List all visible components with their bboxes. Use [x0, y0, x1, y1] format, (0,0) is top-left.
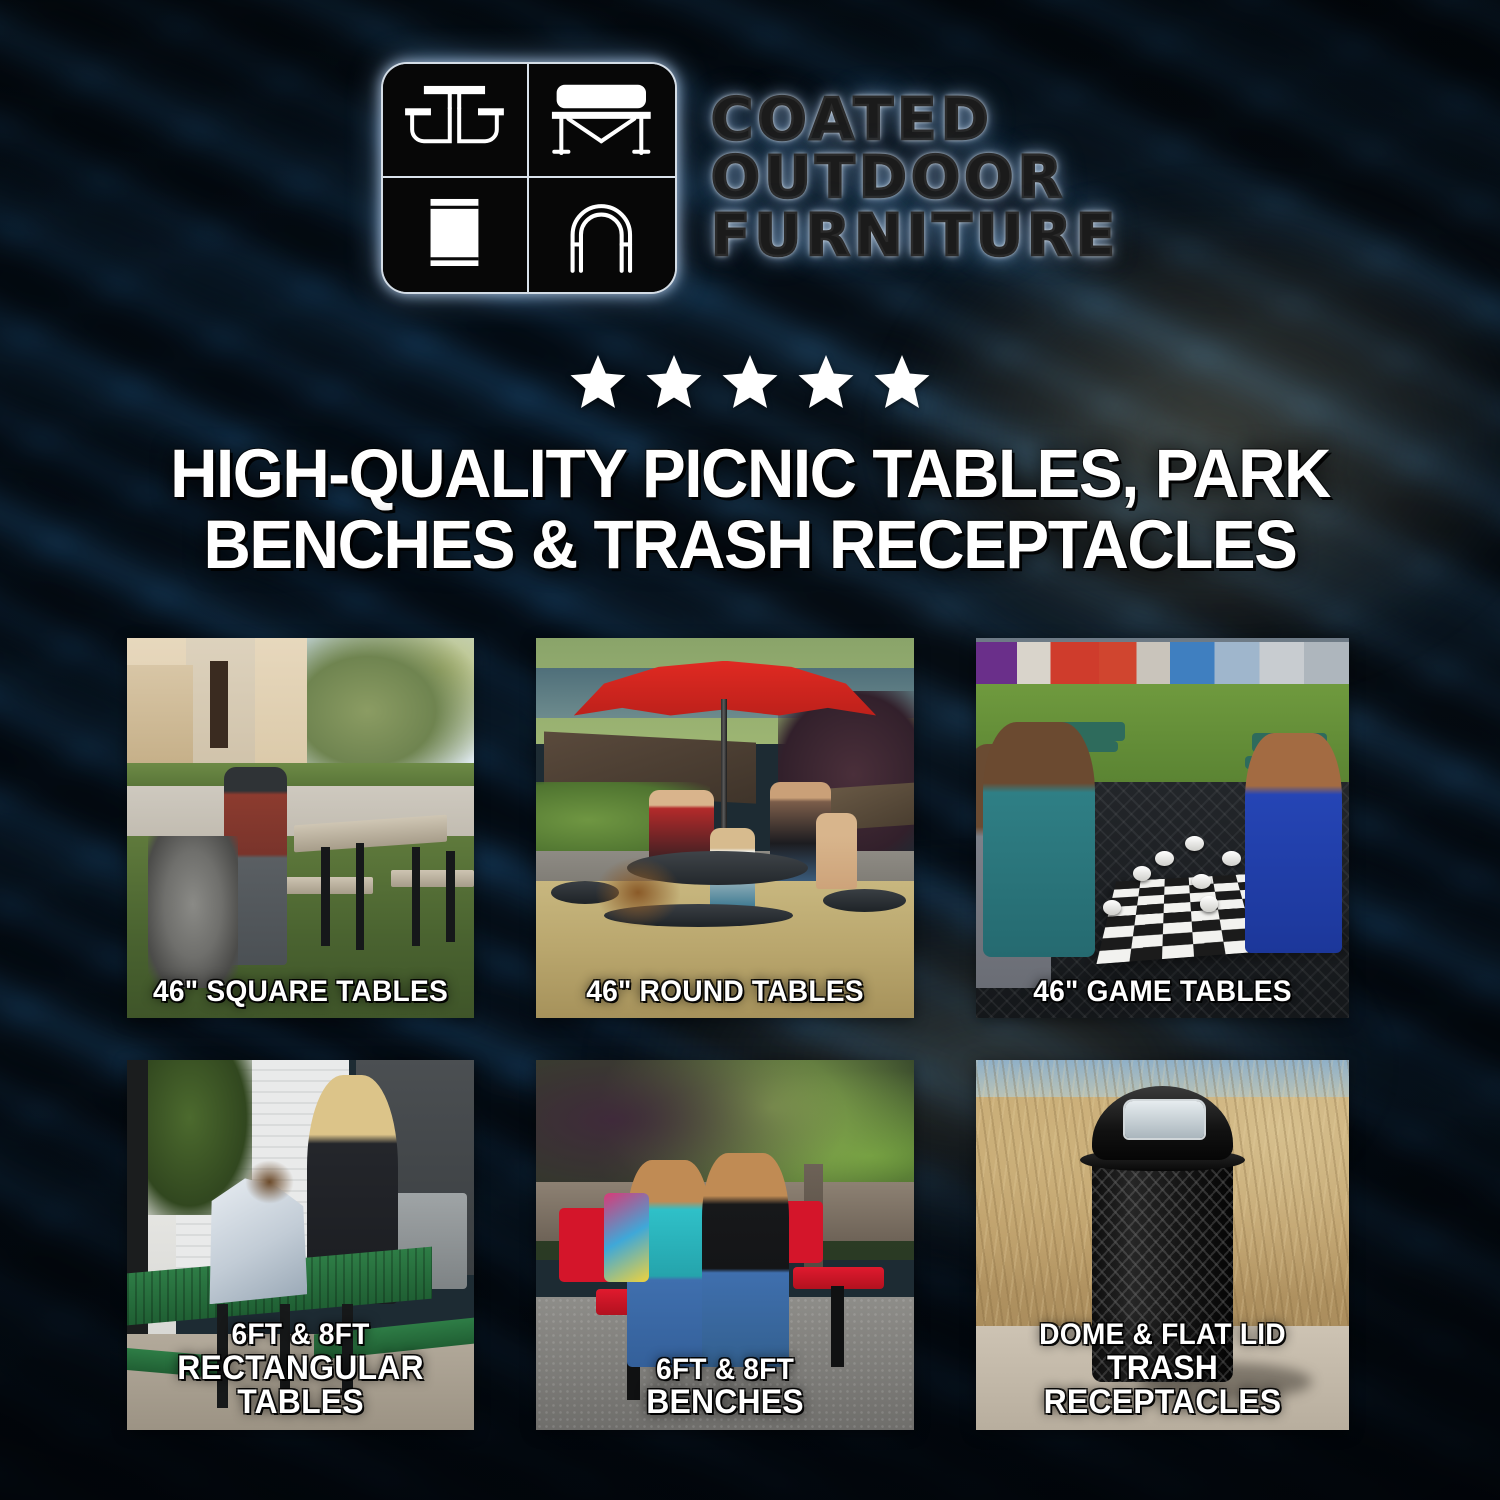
headline-line-2: BENCHES & TRASH RECEPTACLES [95, 509, 1406, 580]
product-caption-benches: 6FT & 8FT BENCHES [553, 1355, 897, 1420]
product-tile-benches[interactable]: 6FT & 8FT BENCHES [536, 1060, 914, 1430]
product-caption-round-tables: 46" ROUND TABLES [553, 977, 897, 1008]
product-photo-round-tables [536, 638, 914, 1018]
park-bench-icon [529, 64, 675, 178]
caption-line-2: RECTANGULAR TABLES [177, 1349, 423, 1422]
headline-line-1: HIGH-QUALITY PICNIC TABLES, PARK [95, 438, 1406, 509]
trash-receptacle-icon [383, 178, 529, 292]
brand-header: COATED OUTDOOR FURNITURE [0, 62, 1500, 294]
bike-rack-icon [529, 178, 675, 292]
page-headline: HIGH-QUALITY PICNIC TABLES, PARK BENCHES… [95, 438, 1406, 580]
product-photo-square-tables [127, 638, 474, 1018]
product-caption-square-tables: 46" SQUARE TABLES [143, 977, 458, 1008]
star-icon [719, 352, 781, 412]
caption-line-2: BENCHES [646, 1383, 804, 1421]
product-tile-rectangular-tables[interactable]: 6FT & 8FT RECTANGULAR TABLES [127, 1060, 474, 1430]
brand-wordmark: COATED OUTDOOR FURNITURE [711, 92, 1119, 263]
product-caption-game-tables: 46" GAME TABLES [993, 977, 1332, 1008]
brand-line-1: COATED [711, 92, 1119, 148]
caption-line-1: 6FT & 8FT [231, 1318, 369, 1351]
brand-line-2: OUTDOOR [711, 150, 1119, 206]
brand-line-3: FURNITURE [711, 208, 1119, 264]
star-icon [795, 352, 857, 412]
product-grid: 46" SQUARE TABLES [127, 638, 1373, 1430]
caption-line-1: DOME & FLAT LID [1039, 1318, 1286, 1351]
picnic-table-icon [383, 64, 529, 178]
star-icon [567, 352, 629, 412]
star-rating [0, 352, 1500, 412]
caption-line-1: 6FT & 8FT [656, 1353, 794, 1386]
star-icon [643, 352, 705, 412]
product-tile-game-tables[interactable]: 46" GAME TABLES [976, 638, 1349, 1018]
star-icon [871, 352, 933, 412]
product-photo-game-tables [976, 638, 1349, 1018]
product-tile-round-tables[interactable]: 46" ROUND TABLES [536, 638, 914, 1018]
product-tile-trash-receptacles[interactable]: DOME & FLAT LID TRASH RECEPTACLES [976, 1060, 1349, 1430]
product-tile-square-tables[interactable]: 46" SQUARE TABLES [127, 638, 474, 1018]
product-caption-trash-receptacles: DOME & FLAT LID TRASH RECEPTACLES [993, 1320, 1332, 1420]
product-caption-rectangular-tables: 6FT & 8FT RECTANGULAR TABLES [143, 1320, 458, 1420]
caption-line-2: TRASH RECEPTACLES [1044, 1349, 1282, 1422]
brand-logo-mark [381, 62, 677, 294]
